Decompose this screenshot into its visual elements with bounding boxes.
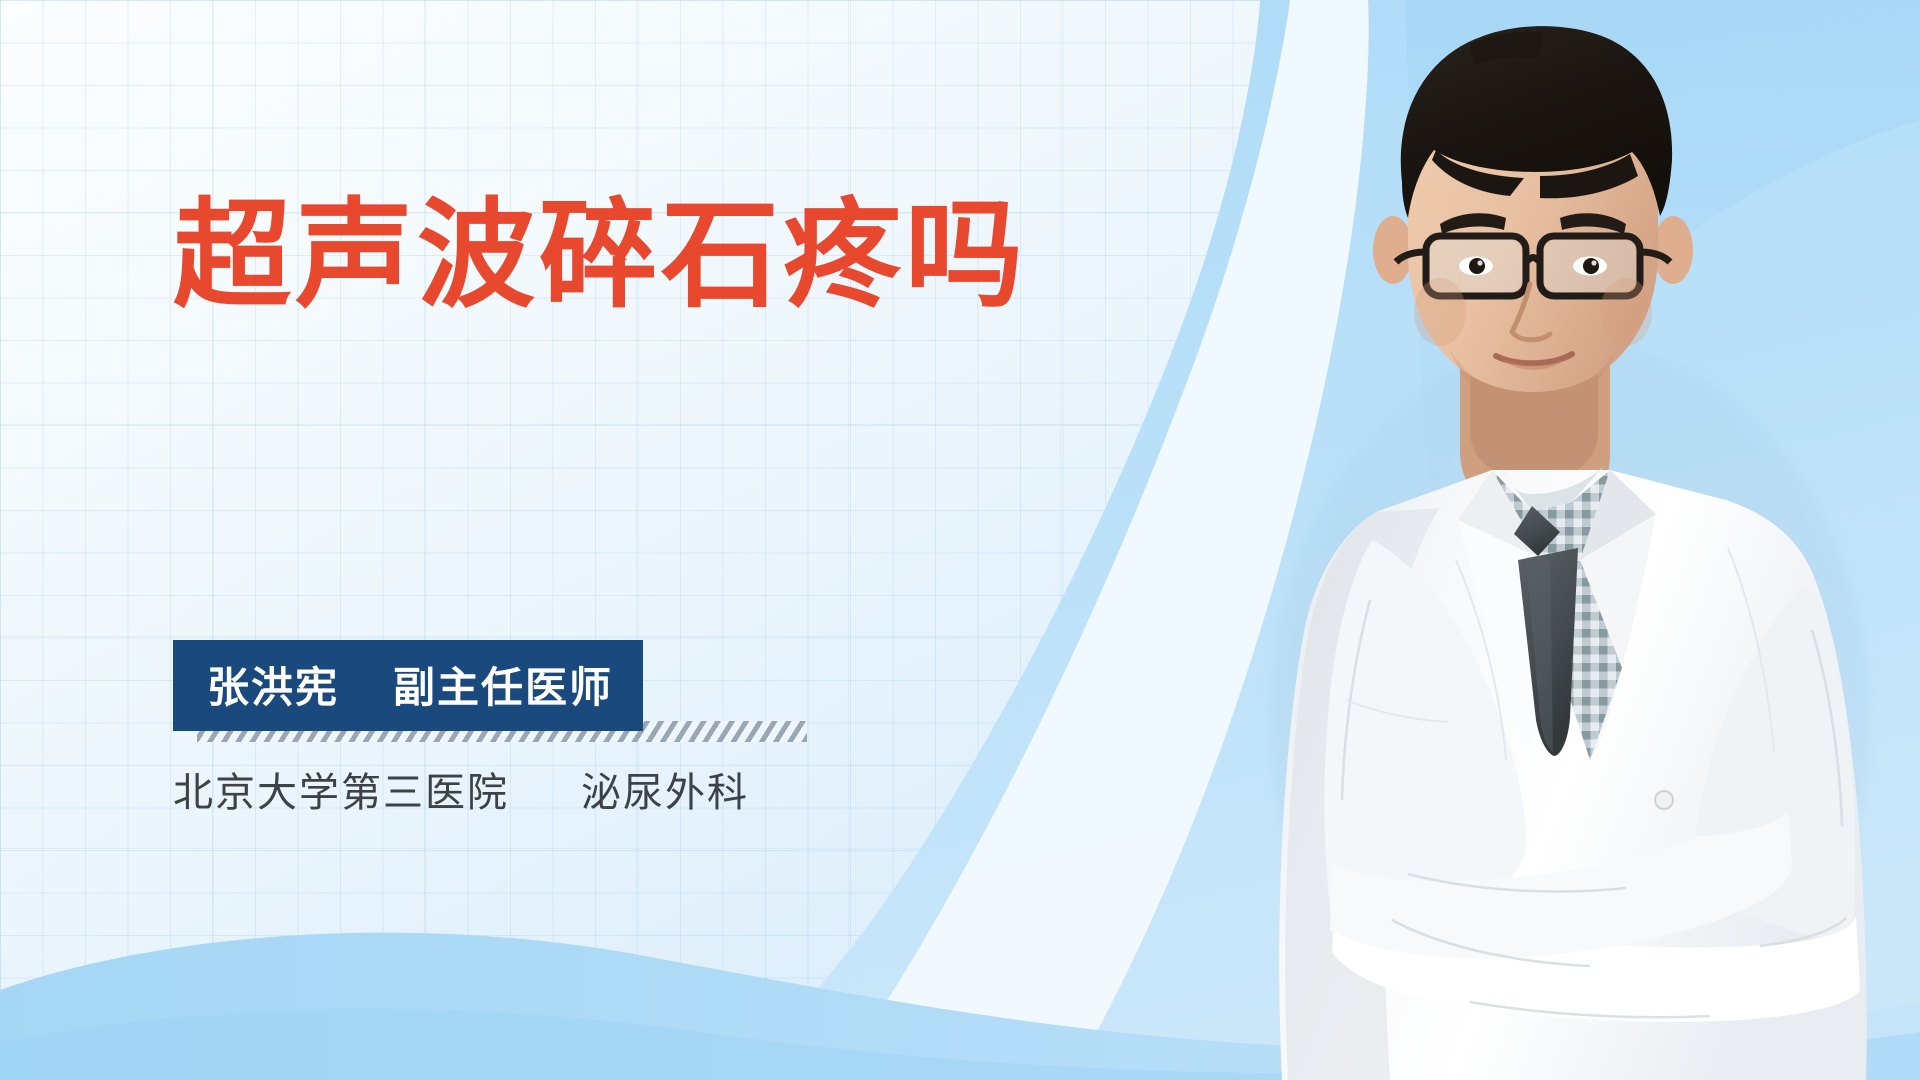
hospital-name: 北京大学第三医院 (173, 770, 509, 816)
department-name: 泌尿外科 (581, 770, 749, 816)
background-grid (0, 0, 1920, 1080)
doctor-name: 张洪宪 (207, 654, 339, 715)
background-grid-major (0, 0, 1920, 1080)
name-badge: 张洪宪 副主任医师 (173, 640, 643, 731)
decorative-swash (0, 0, 1920, 1080)
promo-card: 超声波碎石疼吗 张洪宪 副主任医师 北京大学第三医院泌尿外科 (0, 0, 1920, 1080)
page-title: 超声波碎石疼吗 (173, 196, 1027, 314)
doctor-portrait (1140, 0, 1920, 1080)
doctor-title: 副主任医师 (393, 654, 613, 715)
credential-block: 张洪宪 副主任医师 (173, 640, 643, 731)
affiliation-line: 北京大学第三医院泌尿外科 (173, 760, 749, 818)
